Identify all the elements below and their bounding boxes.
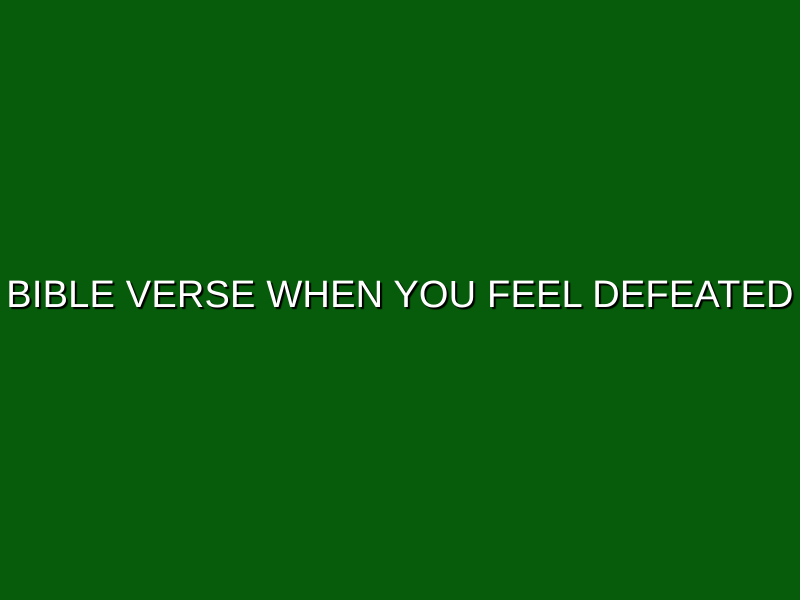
title-card: BIBLE VERSE WHEN YOU FEEL DEFEATED (0, 0, 800, 600)
page-title: BIBLE VERSE WHEN YOU FEEL DEFEATED (0, 274, 800, 318)
